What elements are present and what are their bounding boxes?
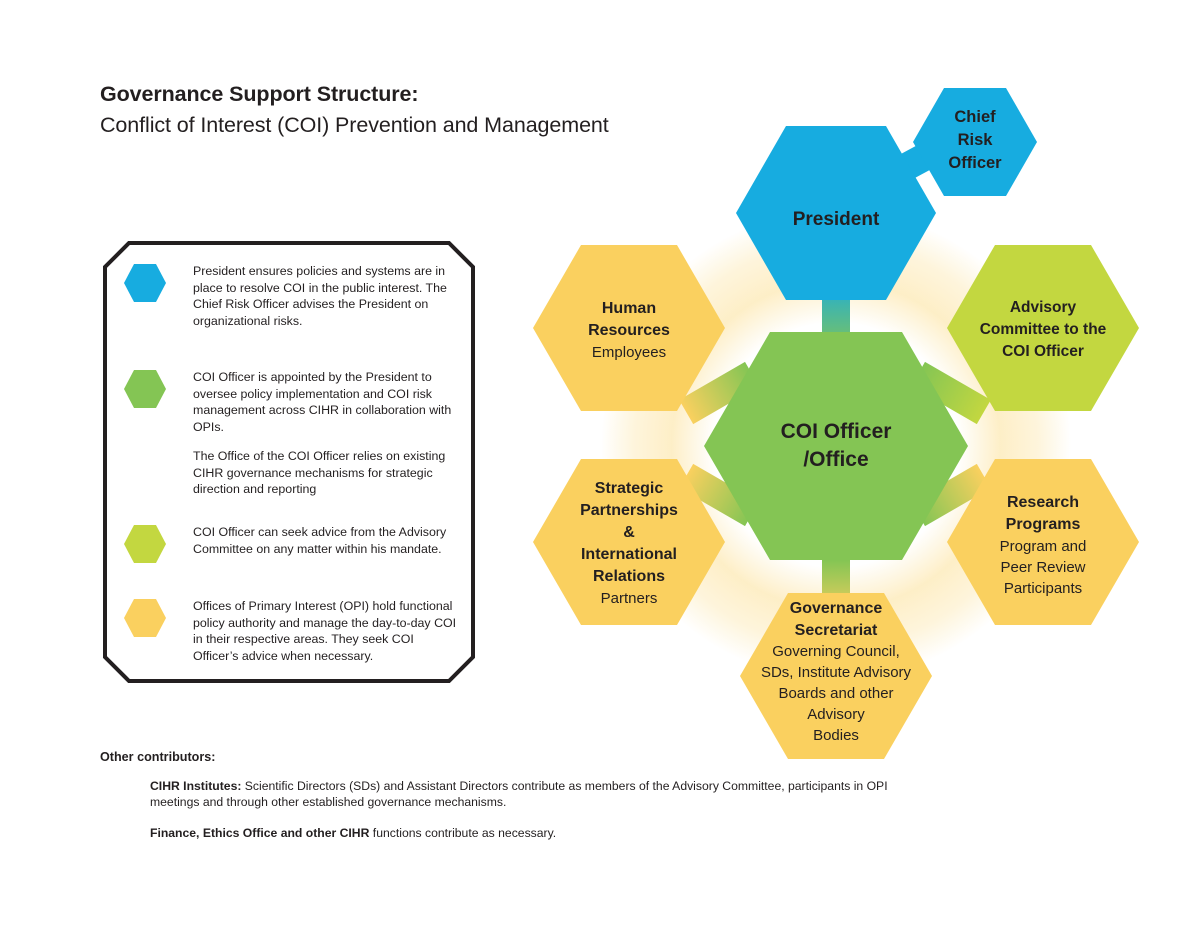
- hex-diagram-svg: Chief Risk Officer President COI Officer…: [500, 60, 1200, 780]
- label-advisory-2: Committee to the: [980, 321, 1107, 338]
- label-chief-risk-officer-2: Risk: [958, 131, 994, 149]
- label-gs-7: Bodies: [813, 727, 859, 744]
- label-hr-1: Human: [602, 300, 656, 317]
- legend-swatch-green: [123, 369, 167, 409]
- label-gs-3: Governing Council,: [772, 643, 900, 660]
- legend-item-opi: Offices of Primary Interest (OPI) hold f…: [123, 598, 463, 664]
- label-sp-6: Partners: [601, 590, 658, 607]
- label-sp-4: International: [581, 546, 677, 563]
- label-sp-5: Relations: [593, 568, 665, 585]
- governance-hex-diagram: Chief Risk Officer President COI Officer…: [500, 60, 1200, 780]
- legend-swatch-blue: [123, 263, 167, 303]
- legend-swatch-yellow: [123, 598, 167, 638]
- label-gs-4: SDs, Institute Advisory: [761, 664, 912, 681]
- label-president: President: [793, 209, 880, 230]
- contributor-item-finance: Finance, Ethics Office and other CIHR fu…: [150, 825, 900, 841]
- legend-text-president: President ensures policies and systems a…: [193, 263, 461, 329]
- label-research-4: Peer Review: [1000, 559, 1085, 576]
- label-sp-1: Strategic: [595, 480, 664, 497]
- label-chief-risk-officer-1: Chief: [954, 108, 996, 126]
- label-advisory-3: COI Officer: [1002, 343, 1084, 360]
- label-hr-3: Employees: [592, 344, 666, 361]
- label-advisory-1: Advisory: [1010, 299, 1077, 316]
- legend-item-coi-officer: COI Officer is appointed by the Presiden…: [123, 369, 463, 498]
- node-chief-risk-officer[interactable]: Chief Risk Officer: [913, 88, 1037, 196]
- label-chief-risk-officer-3: Officer: [948, 154, 1002, 172]
- label-sp-2: Partnerships: [580, 502, 678, 519]
- contributor-item-institutes: CIHR Institutes: Scientific Directors (S…: [150, 778, 900, 811]
- label-research-1: Research: [1007, 494, 1079, 511]
- legend-text-coi-officer: COI Officer is appointed by the Presiden…: [193, 369, 461, 435]
- legend-text-coi-officer-group: COI Officer is appointed by the Presiden…: [193, 369, 461, 498]
- label-research-3: Program and: [1000, 538, 1087, 555]
- label-gs-2: Secretariat: [795, 622, 878, 639]
- label-hr-2: Resources: [588, 322, 670, 339]
- legend-text-coi-office-governance: The Office of the COI Officer relies on …: [193, 448, 461, 498]
- label-gs-5: Boards and other: [778, 685, 893, 702]
- label-gs-1: Governance: [790, 600, 883, 617]
- label-coi-officer-1: COI Officer: [781, 420, 892, 443]
- legend-panel: President ensures policies and systems a…: [103, 241, 475, 683]
- contributor-institutes-label: CIHR Institutes:: [150, 779, 241, 793]
- legend-swatch-lime: [123, 524, 167, 564]
- label-research-5: Participants: [1004, 580, 1082, 597]
- contributor-finance-label: Finance, Ethics Office and other CIHR: [150, 826, 369, 840]
- contributor-institutes-text: Scientific Directors (SDs) and Assistant…: [150, 779, 888, 809]
- legend-text-opi: Offices of Primary Interest (OPI) hold f…: [193, 598, 461, 664]
- label-research-2: Programs: [1006, 516, 1081, 533]
- legend-item-advisory: COI Officer can seek advice from the Adv…: [123, 524, 463, 564]
- diagram-page: Governance Support Structure: Conflict o…: [0, 0, 1200, 939]
- contributor-finance-text: functions contribute as necessary.: [369, 826, 556, 840]
- label-gs-6: Advisory: [807, 706, 865, 723]
- label-coi-officer-2: /Office: [803, 448, 868, 471]
- legend-item-president: President ensures policies and systems a…: [123, 263, 463, 329]
- legend-text-advisory: COI Officer can seek advice from the Adv…: [193, 524, 461, 564]
- label-sp-3: &: [623, 524, 635, 541]
